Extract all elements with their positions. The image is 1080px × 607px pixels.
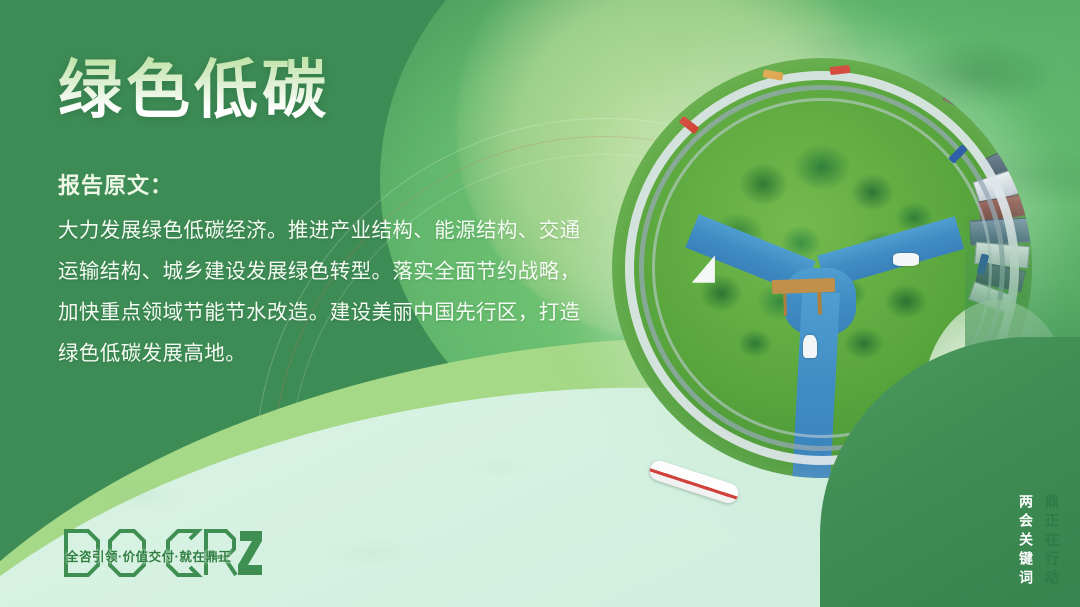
body-paragraph: 大力发展绿色低碳经济。推进产业结构、能源结构、交通运输结构、城乡建设发展绿色转型… <box>58 210 598 374</box>
brand-logo[interactable]: 全咨引领·价值交付·就在鼎正 <box>62 527 262 579</box>
logo-tagline: 全咨引领·价值交付·就在鼎正 <box>66 546 231 565</box>
vertical-text-action: 鼎正在行动 <box>1042 494 1062 589</box>
vertical-text-keywords: 两会关键词 <box>1016 494 1036 589</box>
page-title: 绿色低碳 <box>58 55 330 125</box>
section-label: 报告原文： <box>58 168 173 200</box>
slide-canvas: 绿色低碳 报告原文： 大力发展绿色低碳经济。推进产业结构、能源结构、交通运输结构… <box>0 0 1080 607</box>
